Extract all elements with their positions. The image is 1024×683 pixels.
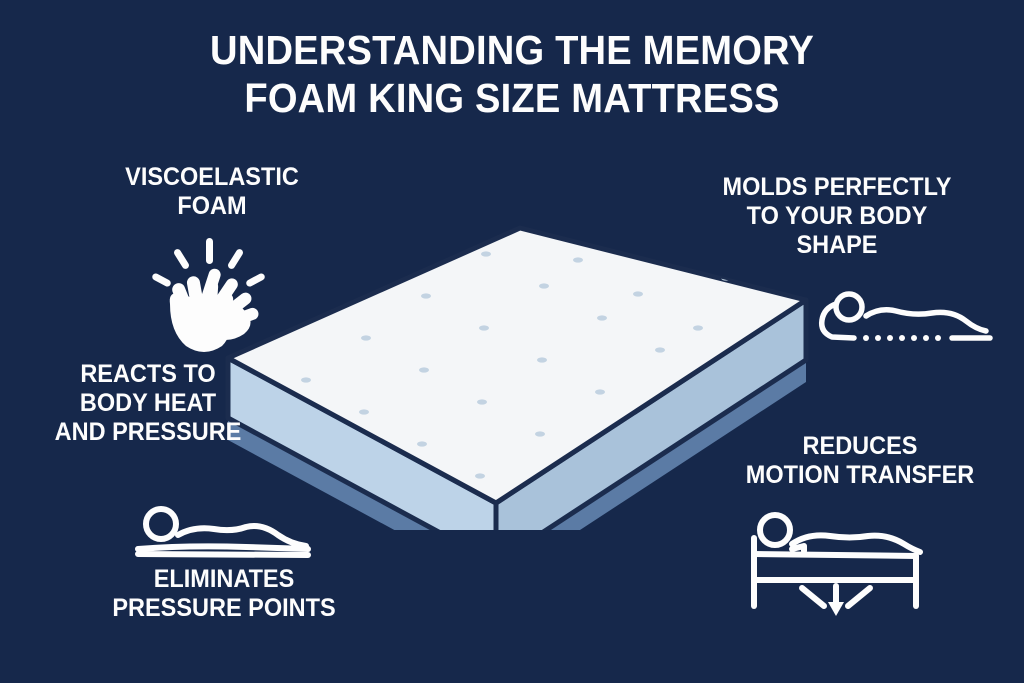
body-contour-sinking-icon: [818, 290, 996, 352]
arrow-head-icon: [828, 602, 844, 616]
callout-label-reacts-to-body-heat-and-pressure: REACTS TO BODY HEAT AND PRESSURE: [16, 360, 279, 447]
person-on-bed-with-down-arrows-icon: [742, 508, 932, 616]
callout-label-viscoelastic-foam: VISCOELASTIC FOAM: [62, 163, 363, 221]
clapping-hands-icon: [152, 238, 270, 360]
page-title: UNDERSTANDING THE MEMORY FOAM KING SIZE …: [36, 26, 988, 123]
callout-label-reduces-motion-transfer: REDUCES MOTION TRANSFER: [710, 432, 1011, 490]
callout-label-eliminates-pressure-points: ELIMINATES PRESSURE POINTS: [74, 565, 375, 623]
contour-dots: [863, 335, 941, 341]
callout-label-molds-perfectly-to-your-body-shape: MOLDS PERFECTLY TO YOUR BODY SHAPE: [682, 173, 992, 260]
infographic-canvas: UNDERSTANDING THE MEMORY FOAM KING SIZE …: [0, 0, 1024, 683]
person-lying-flat-icon: [128, 505, 324, 565]
